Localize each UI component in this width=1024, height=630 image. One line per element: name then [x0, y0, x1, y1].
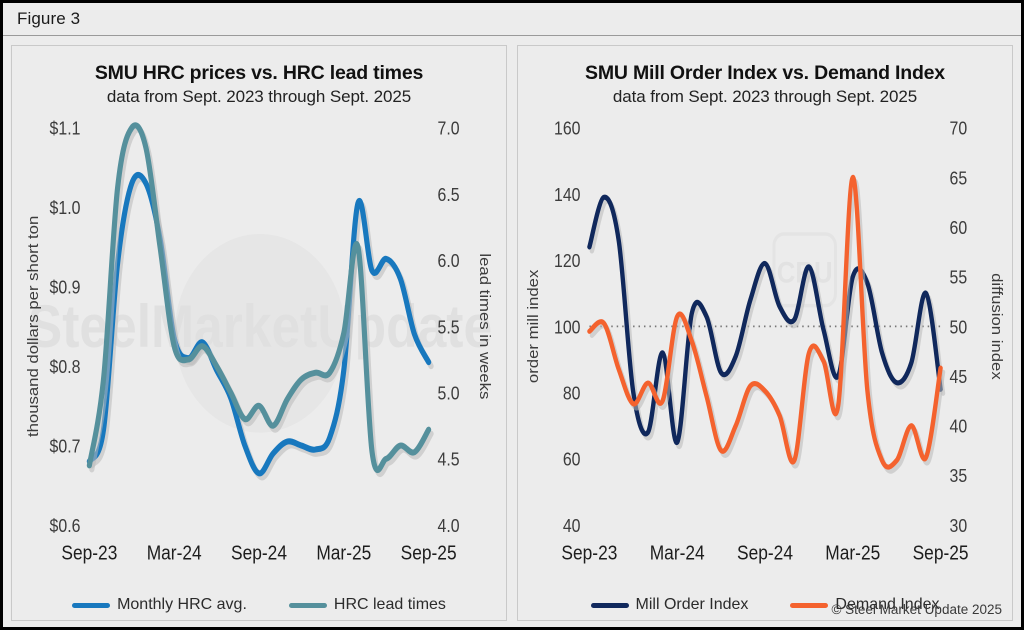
- ytick-left-1: 60: [563, 449, 581, 470]
- ytick-left-2: $0.8: [50, 356, 81, 377]
- xtick-0: Sep-23: [561, 541, 617, 564]
- ytick-right-1: 35: [950, 465, 968, 486]
- ytick-left-2: 80: [563, 382, 581, 403]
- legend-item-mill-order-index[interactable]: Mill Order Index: [591, 596, 749, 614]
- plot-area-right: CRU406080100120140160303540455055606570o…: [518, 107, 1012, 592]
- xtick-1: Mar-24: [147, 541, 202, 564]
- xtick-0: Sep-23: [61, 541, 117, 564]
- legend-left: Monthly HRC avg. HRC lead times: [12, 590, 506, 620]
- legend-item-monthly-hrc-avg[interactable]: Monthly HRC avg.: [72, 596, 247, 614]
- legend-swatch-monthly-hrc-avg: [72, 603, 110, 608]
- ytick-right-7: 65: [950, 167, 968, 188]
- xtick-3: Mar-25: [316, 541, 371, 564]
- legend-swatch-mill-order-index: [591, 603, 629, 608]
- ytick-right-8: 70: [950, 118, 968, 139]
- ytick-left-0: 40: [563, 515, 581, 536]
- legend-label-mill-order-index: Mill Order Index: [636, 596, 749, 614]
- y-axis-title-right: diffusion index: [988, 273, 1004, 380]
- ytick-left-4: $1.0: [50, 197, 81, 218]
- chart-panel-mill-order-index: SMU Mill Order Index vs. Demand Index da…: [517, 45, 1013, 621]
- panels-container: SMU HRC prices vs. HRC lead times data f…: [3, 36, 1021, 627]
- chart-title-right: SMU Mill Order Index vs. Demand Index: [518, 62, 1012, 85]
- xtick-3: Mar-25: [825, 541, 880, 564]
- ytick-left-1: $0.7: [50, 435, 81, 456]
- ytick-left-3: 100: [554, 316, 580, 337]
- panel-title-block-left: SMU HRC prices vs. HRC lead times data f…: [12, 46, 506, 107]
- ytick-right-5: 55: [950, 267, 968, 288]
- ytick-left-3: $0.9: [50, 276, 81, 297]
- panel-title-block-right: SMU Mill Order Index vs. Demand Index da…: [518, 46, 1012, 107]
- chart-subtitle-left: data from Sept. 2023 through Sept. 2025: [12, 87, 506, 107]
- figure-frame: Figure 3 SMU HRC prices vs. HRC lead tim…: [0, 0, 1024, 630]
- watermark-steel-market-update: SteelMarketUpdate: [28, 234, 492, 433]
- ytick-right-2: 40: [950, 415, 968, 436]
- figure-header: Figure 3: [3, 3, 1021, 36]
- y-axis-title-left: order mill index: [526, 270, 542, 384]
- chart-svg-left: SteelMarketUpdate$0.6$0.7$0.8$0.9$1.0$1.…: [12, 107, 506, 592]
- ytick-right-3: 45: [950, 366, 968, 387]
- legend-item-hrc-lead-times[interactable]: HRC lead times: [289, 596, 446, 614]
- ytick-left-4: 120: [554, 250, 580, 271]
- ytick-right-1: 4.5: [438, 449, 460, 470]
- ytick-right-2: 5.0: [438, 382, 460, 403]
- chart-subtitle-right: data from Sept. 2023 through Sept. 2025: [518, 87, 1012, 107]
- chart-title-left: SMU HRC prices vs. HRC lead times: [12, 62, 506, 85]
- xtick-4: Sep-25: [401, 541, 457, 564]
- ytick-right-6: 60: [950, 217, 968, 238]
- xtick-2: Sep-24: [737, 541, 793, 564]
- ytick-right-4: 6.0: [438, 250, 460, 271]
- xtick-2: Sep-24: [231, 541, 287, 564]
- ytick-right-4: 50: [950, 316, 968, 337]
- y-axis-title-right: lead times in weeks: [477, 253, 493, 399]
- copyright-notice: © Steel Market Update 2025: [831, 602, 1002, 617]
- ytick-left-0: $0.6: [50, 515, 81, 536]
- series-shadow-0: [592, 201, 943, 446]
- ytick-right-5: 6.5: [438, 184, 460, 205]
- plot-area-left: SteelMarketUpdate$0.6$0.7$0.8$0.9$1.0$1.…: [12, 107, 506, 592]
- ytick-right-6: 7.0: [438, 118, 460, 139]
- xtick-1: Mar-24: [650, 541, 705, 564]
- xtick-4: Sep-25: [913, 541, 969, 564]
- series-line-0[interactable]: [589, 197, 940, 442]
- legend-swatch-demand-index: [790, 603, 828, 608]
- chart-svg-right: CRU406080100120140160303540455055606570o…: [518, 107, 1012, 592]
- ytick-right-0: 4.0: [438, 515, 460, 536]
- legend-label-hrc-lead-times: HRC lead times: [334, 596, 446, 614]
- y-axis-title-left: thousand dollars per short ton: [26, 216, 42, 437]
- ytick-right-3: 5.5: [438, 316, 460, 337]
- ytick-left-5: 140: [554, 184, 580, 205]
- ytick-right-0: 30: [950, 515, 968, 536]
- chart-panel-hrc-prices: SMU HRC prices vs. HRC lead times data f…: [11, 45, 507, 621]
- legend-swatch-hrc-lead-times: [289, 603, 327, 608]
- legend-label-monthly-hrc-avg: Monthly HRC avg.: [117, 596, 247, 614]
- figure-label: Figure 3: [17, 9, 80, 29]
- ytick-left-5: $1.1: [50, 118, 81, 139]
- ytick-left-6: 160: [554, 118, 580, 139]
